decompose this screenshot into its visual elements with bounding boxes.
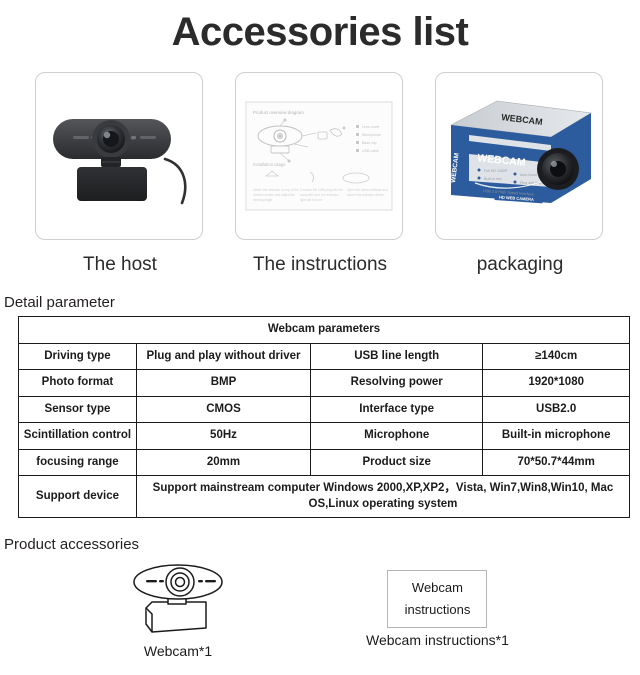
product-accessories-label: Product accessories [4,536,640,553]
param-value: USB2.0 [483,396,630,423]
param-key: Resolving power [311,370,483,397]
param-value: CMOS [136,396,310,423]
param-value: BMP [136,370,310,397]
accessory-item-instructions: Webcam instructions Webcam instructions*… [366,558,509,648]
param-value: Built-in microphone [483,423,630,450]
accessories-gallery: The host Product overview diagram [0,72,640,276]
table-row: focusing range 20mm Product size 70*50.7… [19,449,630,476]
param-key: Photo format [19,370,137,397]
svg-text:Auto focus: Auto focus [520,173,537,177]
svg-text:Attach the webcam on top of th: Attach the webcam on top of the [253,188,299,192]
param-key: Interface type [311,396,483,423]
svg-text:Installation usage: Installation usage [253,162,286,167]
svg-text:Built-in mic: Built-in mic [484,177,502,181]
table-row: Driving type Plug and play without drive… [19,343,630,370]
webcam-lineart-icon [118,558,238,636]
gallery-cell-host: The host [35,72,205,276]
param-key: focusing range [19,449,137,476]
webcam-photo-icon [39,81,199,231]
param-key: Sensor type [19,396,137,423]
svg-text:Lens cover: Lens cover [362,125,380,129]
page-title: Accessories list [0,0,640,60]
svg-text:viewing angle.: viewing angle. [253,198,273,202]
param-value: 1920*1080 [483,370,630,397]
gallery-image-frame: Product overview diagram [235,72,403,240]
svg-text:Base clip: Base clip [362,141,377,145]
svg-text:Connect the USB plug into the: Connect the USB plug into the [300,188,343,192]
param-value: Plug and play without driver [136,343,310,370]
svg-text:USB cable: USB cable [362,149,379,153]
table-header-row: Webcam parameters [19,317,630,344]
svg-text:select this webcam device.: select this webcam device. [347,193,385,197]
svg-text:Product overview diagram: Product overview diagram [253,110,304,115]
svg-text:computer port, the indicator: computer port, the indicator [300,193,340,197]
param-value: ≥140cm [483,343,630,370]
manual-box-icon: Webcam instructions [387,570,487,628]
gallery-image-frame [35,72,203,240]
param-value: 20mm [136,449,310,476]
detail-parameter-label: Detail parameter [4,294,640,311]
table-row: Scintillation control 50Hz Microphone Bu… [19,423,630,450]
gallery-caption: The instructions [235,254,405,276]
svg-text:Full HD 1080P: Full HD 1080P [484,169,508,173]
gallery-cell-packaging: WEBCAM WEBCAM WEBCAM Full HD 1080PAuto f… [435,72,605,276]
table-row-support-device: Support device Support mainstream comput… [19,476,630,518]
svg-text:Microphone: Microphone [362,133,381,137]
gallery-cell-instructions: Product overview diagram [235,72,405,276]
param-key: Microphone [311,423,483,450]
retail-box-icon: WEBCAM WEBCAM WEBCAM Full HD 1080PAuto f… [439,91,599,221]
accessory-caption: Webcam*1 [118,643,238,659]
param-value: Support mainstream computer Windows 2000… [136,476,629,518]
accessory-caption: Webcam instructions*1 [366,632,509,648]
manual-box-line2: instructions [405,599,471,621]
svg-text:Open the video software and: Open the video software and [347,188,388,192]
param-key: Scintillation control [19,423,137,450]
param-value: 70*50.7*44mm [483,449,630,476]
gallery-caption: packaging [435,254,605,276]
param-key: Driving type [19,343,137,370]
gallery-image-frame: WEBCAM WEBCAM WEBCAM Full HD 1080PAuto f… [435,72,603,240]
param-value: 50Hz [136,423,310,450]
table-row: Sensor type CMOS Interface type USB2.0 [19,396,630,423]
param-key: Support device [19,476,137,518]
table-row: Photo format BMP Resolving power 1920*10… [19,370,630,397]
param-key: USB line length [311,343,483,370]
webcam-parameters-table: Webcam parameters Driving type Plug and … [18,316,630,518]
instruction-sheet-icon: Product overview diagram [244,100,394,212]
param-key: Product size [311,449,483,476]
table-title-cell: Webcam parameters [19,317,630,344]
svg-text:monitor screen and adjust the: monitor screen and adjust the [253,193,295,197]
svg-text:light will turn on.: light will turn on. [300,198,323,202]
product-accessories-row: Webcam*1 Webcam instructions Webcam inst… [0,558,640,659]
gallery-caption: The host [35,254,205,276]
manual-box-line1: Webcam [412,577,463,599]
accessory-item-webcam: Webcam*1 [118,558,238,659]
